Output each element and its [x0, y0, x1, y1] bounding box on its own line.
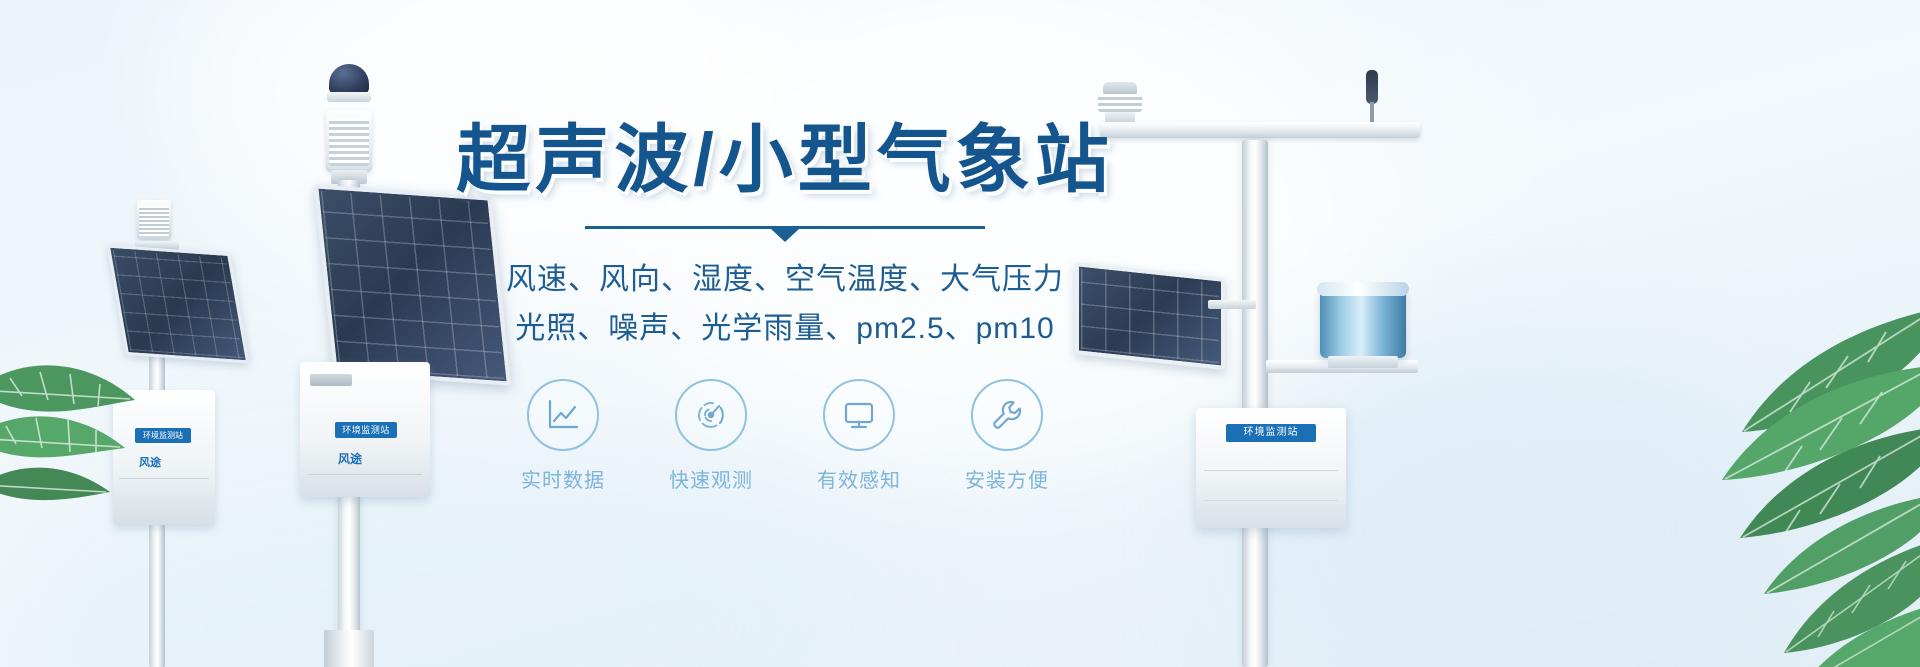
crossbar [1100, 122, 1420, 138]
radar-scan-icon [675, 379, 747, 451]
feature-item-easy-install[interactable]: 安装方便 [947, 379, 1067, 493]
box-seam-2 [1204, 500, 1338, 501]
box-seam-1 [1204, 470, 1338, 471]
subtitle-block: 风速、风向、湿度、空气温度、大气压力 光照、噪声、光学雨量、pm2.5、pm10 [435, 256, 1135, 353]
station-base [324, 630, 374, 667]
product-banner: 环境监测站 风途 环境监测站 风途 环境监测 [0, 0, 1920, 667]
chevron-down-icon [771, 229, 799, 242]
solar-panel-arm-right [1208, 300, 1256, 309]
feature-label: 有效感知 [799, 464, 919, 493]
page-title: 超声波/小型气象站 [435, 120, 1135, 200]
enclosure-box-left-tall: 环境监测站 风途 [300, 362, 430, 497]
ultrasonic-dome-sensor-icon [329, 64, 369, 94]
feature-item-realtime-data[interactable]: 实时数据 [503, 379, 623, 493]
radiation-shield-icon [137, 200, 171, 240]
tropical-leaf-bottom-right [1710, 517, 1920, 667]
feature-label: 快速观测 [651, 464, 771, 493]
box-seam [308, 474, 422, 475]
vent-grille [310, 374, 352, 386]
dome-cap [327, 92, 371, 102]
feature-label: 安装方便 [947, 464, 1067, 493]
title-divider [585, 226, 985, 242]
monitor-icon [823, 379, 895, 451]
wrench-icon [971, 379, 1043, 451]
feature-label: 实时数据 [503, 464, 623, 493]
name-plate-label: 环境监测站 [335, 422, 397, 438]
feature-item-fast-observation[interactable]: 快速观测 [651, 379, 771, 493]
subtitle-line-1: 风速、风向、湿度、空气温度、大气压力 [435, 256, 1135, 305]
name-plate-label: 环境监测站 [1226, 424, 1316, 442]
wind-vane-icon [1356, 70, 1388, 126]
rain-gauge-icon [1320, 278, 1406, 370]
station-mast [1242, 140, 1268, 667]
feature-list: 实时数据 快速观测 [435, 379, 1135, 493]
line-chart-icon [527, 379, 599, 451]
brand-label: 风途 [338, 450, 362, 467]
feature-item-effective-sensing[interactable]: 有效感知 [799, 379, 919, 493]
subtitle-line-2: 光照、噪声、光学雨量、pm2.5、pm10 [435, 305, 1135, 354]
radiation-shield-icon [326, 110, 372, 172]
banner-text-block: 超声波/小型气象站 风速、风向、湿度、空气温度、大气压力 光照、噪声、光学雨量、… [435, 120, 1135, 493]
tropical-leaf-left [0, 330, 170, 520]
enclosure-box-right: 环境监测站 [1196, 408, 1346, 528]
